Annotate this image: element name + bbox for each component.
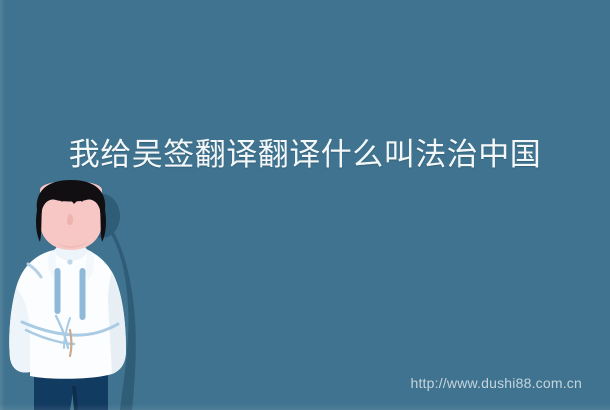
site-watermark: http://www.dushi88.com.cn (410, 374, 582, 392)
poster-canvas: 我给吴签翻译翻译什么叫法治中国 http://www.dushi88.com.c… (0, 0, 610, 410)
person-illustration (4, 180, 144, 410)
poster-headline: 我给吴签翻译翻译什么叫法治中国 (0, 134, 610, 176)
